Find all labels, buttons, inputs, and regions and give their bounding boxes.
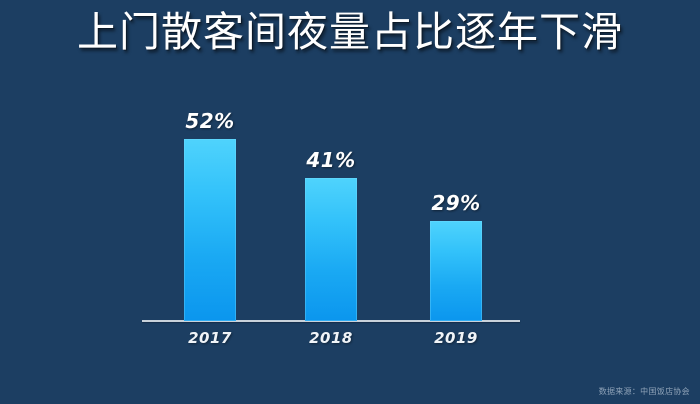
bar-value-label: 41% [287, 148, 375, 172]
slide-canvas: 上门散客间夜量占比逐年下滑 52% 2017 41% 2018 29% 2019… [0, 0, 700, 404]
bar-group-2017: 52% 2017 [184, 139, 236, 321]
bar-2019[interactable] [430, 221, 482, 321]
source-attribution: 数据来源：中国饭店协会 [599, 386, 690, 398]
bar-group-2019: 29% 2019 [430, 221, 482, 321]
bar-2017[interactable] [184, 139, 236, 321]
x-tick-label-2018: 2018 [287, 329, 375, 347]
bar-value-label: 52% [166, 109, 254, 133]
x-tick-label-2019: 2019 [412, 329, 500, 347]
bar-chart: 52% 2017 41% 2018 29% 2019 [0, 0, 700, 404]
x-tick-label-2017: 2017 [166, 329, 254, 347]
bar-2018[interactable] [305, 178, 357, 321]
bar-group-2018: 41% 2018 [305, 178, 357, 321]
bar-value-label: 29% [412, 191, 500, 215]
